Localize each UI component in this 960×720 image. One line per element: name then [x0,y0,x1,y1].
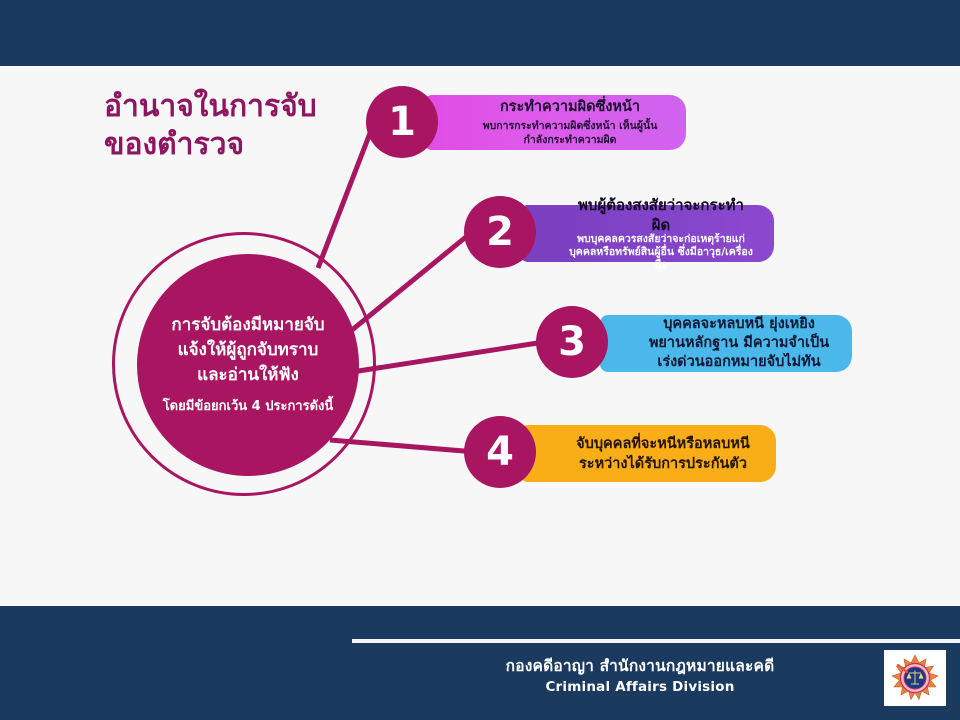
item-2-heading: พบผู้ต้องสงสัยว่าจะกระทำ ผิด [578,195,744,235]
item-3-heading-line-1: บุคคลจะหลบหนี ยุ่งเหยิง [649,315,829,334]
police-legal-emblem-icon [884,650,946,706]
title-line-1: อำนาจในการจับ [104,89,317,124]
footer-text: กองคดีอาญา สำนักงานกฎหมายและคดี Criminal… [430,655,850,697]
item-bar-2[interactable]: พบผู้ต้องสงสัยว่าจะกระทำ ผิด พบบุคคลควรส… [520,205,774,262]
footer-divider [352,639,960,643]
hub-circle: การจับต้องมีหมายจับ แจ้งให้ผู้ถูกจับทราบ… [137,254,359,476]
item-4-heading-line-1: จับบุคคลที่จะหนีหรือหลบหนี [576,434,750,454]
hub-main-line-3: และอ่านให้ฟัง [171,363,324,388]
item-2-sub-line-2: บุคคลหรือทรัพย์สินผู้อื่น ซึ่งมีอาวุธ/เค… [569,246,753,259]
footer-thai-label: กองคดีอาญา สำนักงานกฎหมายและคดี [430,655,850,677]
item-4-heading-line-2: ระหว่างได้รับการประกันตัว [576,454,750,474]
item-bar-4[interactable]: จับบุคคลที่จะหนีหรือหลบหนี ระหว่างได้รับ… [520,425,776,482]
item-1-subtext: พบการกระทำความผิดซึ่งหน้า เห็นผู้นั้น กำ… [483,119,658,147]
top-navy-band [0,0,960,66]
item-1-heading: กระทำความผิดซึ่งหน้า [500,98,640,117]
title-line-2: ของตำรวจ [104,126,404,164]
item-2-heading-line-2: ผิด [578,215,744,235]
item-bar-1[interactable]: กระทำความผิดซึ่งหน้า พบการกระทำความผิดซึ… [424,95,686,150]
item-4-heading: จับบุคคลที่จะหนีหรือหลบหนี ระหว่างได้รับ… [576,434,750,474]
footer-english-label: Criminal Affairs Division [430,677,850,697]
item-number-circle-3[interactable]: 3 [536,306,608,378]
hub-main-line-2: แจ้งให้ผู้ถูกจับทราบ [171,338,324,363]
item-number-circle-1[interactable]: 1 [366,86,438,158]
item-3-heading: บุคคลจะหลบหนี ยุ่งเหยิง พยานหลักฐาน มีคว… [649,315,829,372]
hub-main-line-1: การจับต้องมีหมายจับ [171,313,324,338]
item-2-subtext: พบบุคคลควรสงสัยว่าจะก่อเหตุร้ายแก่ บุคคล… [569,233,753,272]
item-1-sub-line-2: กำลังกระทำความผิด [483,133,658,147]
item-2-sub-line-3: มือ [569,259,753,272]
item-number-circle-2[interactable]: 2 [464,196,536,268]
item-3-heading-line-3: เร่งด่วนออกหมายจับไม่ทัน [649,353,829,372]
slide-canvas: อำนาจในการจับ ของตำรวจ การจับต้องมีหมายจ… [0,0,960,720]
hub-main-text: การจับต้องมีหมายจับ แจ้งให้ผู้ถูกจับทราบ… [171,313,324,388]
item-1-sub-line-1: พบการกระทำความผิดซึ่งหน้า เห็นผู้นั้น [483,119,658,133]
item-number-circle-4[interactable]: 4 [464,416,536,488]
hub-sub-text: โดยมีข้อยกเว้น 4 ประการดังนี้ [163,397,334,417]
item-3-heading-line-2: พยานหลักฐาน มีความจำเป็น [649,334,829,353]
item-2-heading-line-1: พบผู้ต้องสงสัยว่าจะกระทำ [578,195,744,215]
item-bar-3[interactable]: บุคคลจะหลบหนี ยุ่งเหยิง พยานหลักฐาน มีคว… [600,315,852,372]
item-2-sub-line-1: พบบุคคลควรสงสัยว่าจะก่อเหตุร้ายแก่ [569,233,753,246]
page-title: อำนาจในการจับ ของตำรวจ [104,88,404,164]
